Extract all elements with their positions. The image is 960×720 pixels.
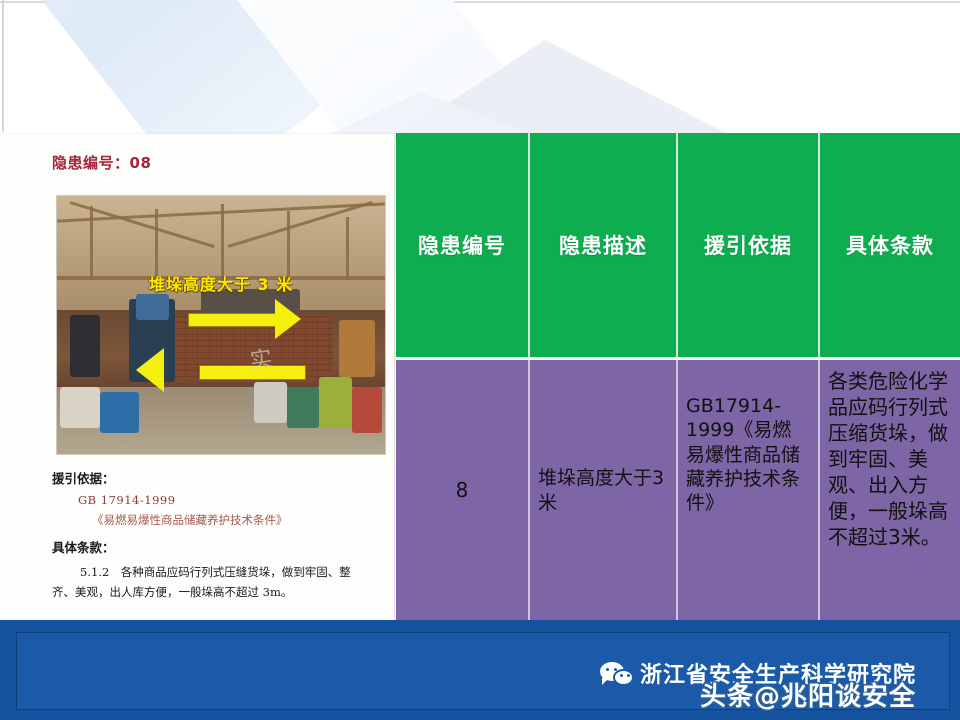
roof-truss: [221, 204, 224, 281]
column-header-description: 隐患描述: [528, 133, 676, 357]
drum: [319, 377, 352, 429]
hazard-table: 隐患编号 隐患描述 援引依据 具体条款 8 堆垛高度大于3米 GB17914-1…: [396, 133, 960, 621]
footer-watermark: 头条@兆阳谈安全: [700, 676, 916, 713]
ref-heading: 援引依据：: [52, 468, 372, 487]
arrow-right-icon: [188, 299, 345, 340]
cell-basis: GB17914-1999《易燃易爆性商品储藏养护技术条件》: [676, 360, 818, 621]
drum: [352, 387, 382, 433]
ref-standard-code: GB 17914-1999: [78, 493, 372, 507]
document-title: 隐患编号：08: [52, 152, 151, 173]
deco-left-line: [2, 0, 4, 132]
arrow-left-icon: [136, 348, 307, 394]
document-card: 隐患编号：08 堆垛: [0, 134, 395, 621]
document-watermark: 实: [248, 341, 274, 376]
drum: [60, 387, 99, 428]
roof-truss: [287, 211, 290, 278]
drum: [100, 392, 139, 433]
slide-canvas: 隐患编号：08 堆垛: [0, 0, 960, 720]
table-row: 8 堆垛高度大于3米 GB17914-1999《易燃易爆性商品储藏养护技术条件》…: [396, 357, 960, 621]
column-header-clause: 具体条款: [818, 133, 960, 357]
column-header-number: 隐患编号: [396, 133, 528, 357]
hazard-photo: 堆垛高度大于 3 米: [56, 195, 386, 455]
cell-description: 堆垛高度大于3米: [528, 360, 676, 621]
roof-truss: [346, 217, 349, 279]
cell-clause: 各类危险化学品应码行列式压缩货垛，做到牢固、美观、出入方便，一般垛高不超过3米。: [818, 360, 960, 621]
clause-heading: 具体条款：: [52, 537, 372, 556]
document-body: 援引依据： GB 17914-1999 《易燃易爆性商品储藏养护技术条件》 具体…: [52, 468, 372, 602]
clause-text: 5.1.2 各种商品应码行列式压缝货垛，做到牢固、整齐、美观，出人库方便，一般垛…: [52, 562, 372, 602]
stacked-goods: [136, 294, 169, 320]
table-header-row: 隐患编号 隐患描述 援引依据 具体条款: [396, 133, 960, 357]
column-header-basis: 援引依据: [676, 133, 818, 357]
stacked-goods: [70, 315, 100, 377]
cell-number: 8: [396, 360, 528, 621]
roof-truss: [155, 209, 158, 276]
roof-truss: [90, 206, 93, 278]
wechat-icon: [600, 662, 634, 688]
photo-overlay-text: 堆垛高度大于 3 米: [57, 271, 385, 295]
slide-decoration: [0, 0, 960, 140]
ref-standard-name: 《易燃易爆性商品储藏养护技术条件》: [92, 512, 372, 528]
